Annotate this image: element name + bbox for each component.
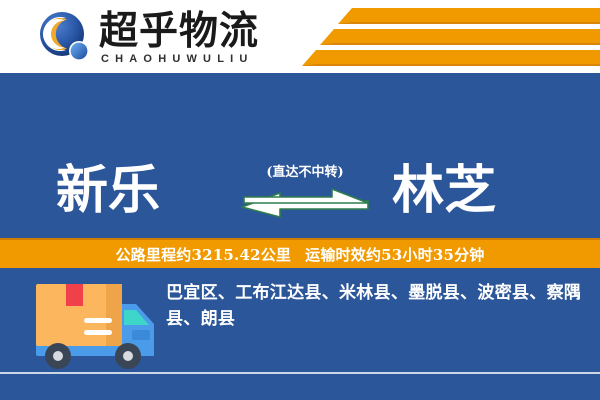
origin-city: 新乐 [56,163,160,219]
coverage-districts: 巴宜区、工布江达县、米林县、墨脱县、波密县、察隅县、朗县 [166,280,586,332]
double-headed-arrow-icon [240,185,370,225]
distance-text: 公路里程约3215.42公里 [115,244,291,265]
circle-crescent-logo-icon [36,10,92,66]
header: 超乎物流 CHAOHUWULIU [0,0,600,73]
orange-speed-stripes-icon [300,0,600,73]
coverage-panel: 巴宜区、工布江达县、米林县、墨脱县、波密县、察隅县、朗县 [0,268,600,400]
direct-service-note: (直达不中转) [240,165,370,181]
delivery-truck-icon [28,278,162,376]
route-panel: 新乐 (直达不中转) 【往返运输】 林芝 [0,73,600,238]
brand-name-cn: 超乎物流 [99,9,259,53]
destination-city: 林芝 [392,163,496,219]
route-info-bar: 公路里程约3215.42公里 运输时效约53小时35分钟 [0,238,600,268]
divider-line [0,372,600,374]
brand-name-en: CHAOHUWULIU [101,53,254,65]
duration-text: 运输时效约53小时35分钟 [305,244,484,265]
logistics-route-banner: 超乎物流 CHAOHUWULIU 新乐 (直达不中转) [0,0,600,400]
